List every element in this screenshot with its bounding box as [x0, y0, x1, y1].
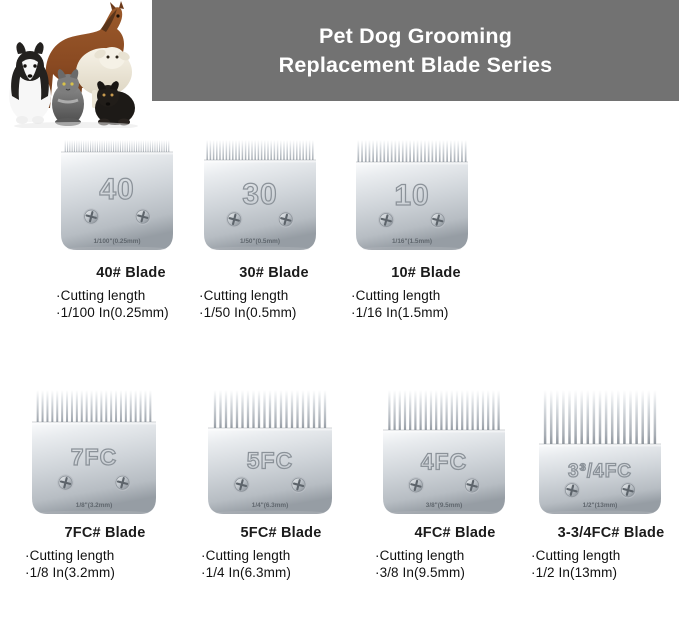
blade-spec-value: ·1/50 In(0.5mm)	[199, 305, 297, 322]
blade-title: 30# Blade	[239, 265, 309, 281]
blade-image-10: 10 1/16"(1.5mm)	[356, 138, 468, 250]
blade-title: 3-3/4FC# Blade	[558, 525, 665, 541]
blade-spec-value: ·1/2 In(13mm)	[531, 565, 617, 582]
animal-collage-svg	[0, 0, 152, 128]
blade-card-40[interactable]: 40 1/100"(0.25mm) 40# Blade ·Cutting len…	[42, 138, 192, 321]
blade-caption-7fc: 7FC# Blade ·Cutting length ·1/8 In(3.2mm…	[3, 514, 185, 581]
svg-text:7FC: 7FC	[71, 444, 117, 470]
blade-row-bottom: 7FC 1/8"(3.2mm) 7FC# Blade ·Cutting leng…	[0, 388, 679, 603]
blade-card-30[interactable]: 30 1/50"(0.5mm) 30# Blade ·Cutting lengt…	[185, 138, 335, 321]
svg-text:5FC: 5FC	[247, 447, 293, 473]
svg-text:1/100"(0.25mm): 1/100"(0.25mm)	[93, 238, 140, 245]
blade-spec-label: ·Cutting length	[201, 548, 290, 565]
blade-title: 5FC# Blade	[241, 525, 322, 541]
blade-spec-value: ·1/4 In(6.3mm)	[201, 565, 291, 582]
blade-image-4fc: 4FC 3/8"(9.5mm)	[383, 388, 505, 514]
blade-card-10[interactable]: 10 1/16"(1.5mm) 10# Blade ·Cutting lengt…	[337, 138, 487, 321]
blade-title: 4FC# Blade	[415, 525, 496, 541]
title-line-1: Pet Dog Grooming	[319, 22, 512, 51]
blade-row-top: 40 1/100"(0.25mm) 40# Blade ·Cutting len…	[0, 138, 679, 348]
blade-title: 40# Blade	[96, 265, 166, 281]
blade-spec-label: ·Cutting length	[375, 548, 464, 565]
blade-card-7fc[interactable]: 7FC 1/8"(3.2mm) 7FC# Blade ·Cutting leng…	[14, 388, 174, 581]
blade-spec-value: ·1/8 In(3.2mm)	[25, 565, 115, 582]
blade-card-4fc[interactable]: 4FC 3/8"(9.5mm) 4FC# Blade ·Cutting leng…	[364, 388, 524, 581]
blade-caption-5fc: 5FC# Blade ·Cutting length ·1/4 In(6.3mm…	[179, 514, 361, 581]
blade-spec-label: ·Cutting length	[25, 548, 114, 565]
blade-caption-3-3-4fc: 3-3/4FC# Blade ·Cutting length ·1/2 In(1…	[509, 514, 679, 581]
blade-image-3-3-4fc: 3³/4FC 1/2"(13mm)	[539, 388, 661, 514]
blade-spec-label: ·Cutting length	[351, 288, 440, 305]
blade-spec-value: ·3/8 In(9.5mm)	[375, 565, 465, 582]
header-banner: Pet Dog Grooming Replacement Blade Serie…	[0, 0, 679, 104]
svg-text:1/4"(6.3mm): 1/4"(6.3mm)	[252, 502, 288, 509]
blade-spec-value: ·1/100 In(0.25mm)	[56, 305, 169, 322]
svg-text:3/8"(9.5mm): 3/8"(9.5mm)	[426, 502, 462, 509]
blade-spec-label: ·Cutting length	[199, 288, 288, 305]
blade-image-5fc: 5FC 1/4"(6.3mm)	[208, 388, 332, 514]
blade-image-40: 40 1/100"(0.25mm)	[61, 138, 173, 250]
svg-text:3³/4FC: 3³/4FC	[568, 461, 632, 482]
blade-card-3-3-4fc[interactable]: 3³/4FC 1/2"(13mm) 3-3/4FC# Blade ·Cuttin…	[520, 388, 679, 581]
svg-text:4FC: 4FC	[421, 449, 467, 475]
svg-text:30: 30	[242, 178, 277, 211]
svg-text:40: 40	[99, 173, 134, 206]
blade-title: 10# Blade	[391, 265, 461, 281]
blade-image-30: 30 1/50"(0.5mm)	[204, 138, 316, 250]
blade-spec-label: ·Cutting length	[531, 548, 620, 565]
blade-spec-value: ·1/16 In(1.5mm)	[351, 305, 449, 322]
svg-text:1/8"(3.2mm): 1/8"(3.2mm)	[76, 502, 112, 509]
animal-collage-image	[0, 0, 152, 128]
svg-text:1/50"(0.5mm): 1/50"(0.5mm)	[240, 238, 280, 245]
svg-text:1/2"(13mm): 1/2"(13mm)	[583, 502, 618, 509]
blade-image-7fc: 7FC 1/8"(3.2mm)	[32, 388, 156, 514]
svg-text:10: 10	[394, 179, 429, 212]
blade-spec-label: ·Cutting length	[56, 288, 145, 305]
blade-card-5fc[interactable]: 5FC 1/4"(6.3mm) 5FC# Blade ·Cutting leng…	[190, 388, 350, 581]
blade-caption-4fc: 4FC# Blade ·Cutting length ·3/8 In(9.5mm…	[353, 514, 535, 581]
title-banner: Pet Dog Grooming Replacement Blade Serie…	[152, 0, 679, 101]
title-line-2: Replacement Blade Series	[279, 51, 553, 80]
blade-caption-10: 10# Blade ·Cutting length ·1/16 In(1.5mm…	[323, 250, 501, 321]
blade-title: 7FC# Blade	[65, 525, 146, 541]
svg-text:1/16"(1.5mm): 1/16"(1.5mm)	[392, 238, 432, 245]
